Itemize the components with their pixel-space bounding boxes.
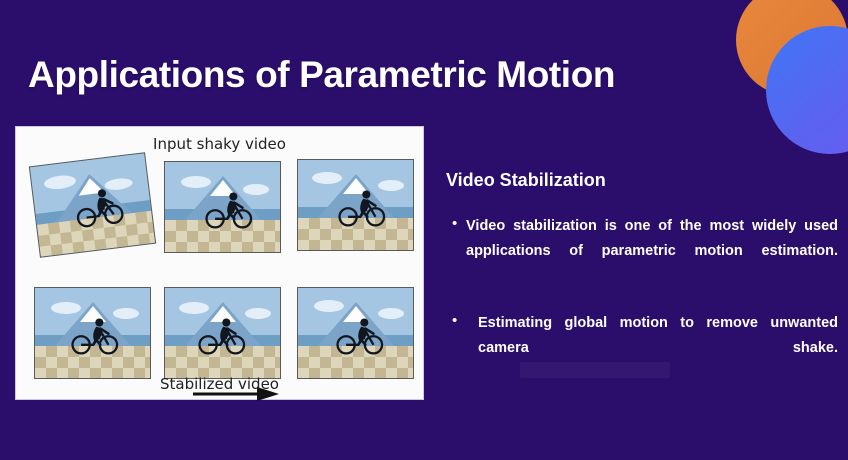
section-subheading: Video Stabilization	[446, 170, 606, 191]
figure-caption-bottom: Stabilized video	[16, 375, 423, 393]
page-title: Applications of Parametric Motion	[28, 54, 615, 96]
blue-circle-icon	[766, 26, 848, 154]
cyclist-icon	[70, 315, 121, 356]
list-item: • Video stabilization is one of the most…	[452, 214, 838, 289]
compression-artifact	[520, 362, 670, 378]
bullet-list: • Video stabilization is one of the most…	[452, 214, 838, 408]
video-frame-shaky-3	[297, 159, 414, 251]
cyclist-icon	[204, 189, 255, 230]
video-frame-stable-3	[297, 287, 414, 379]
cyclist-icon	[197, 315, 248, 356]
video-frame-shaky-1	[29, 152, 156, 258]
orange-circle-icon	[736, 0, 848, 96]
cyclist-icon	[337, 187, 388, 228]
video-frame-stable-1	[34, 287, 151, 379]
video-frame-shaky-2	[164, 161, 281, 253]
slide-canvas: Applications of Parametric Motion Input …	[0, 0, 848, 460]
cyclist-icon	[335, 315, 386, 356]
bullet-marker: •	[452, 214, 466, 289]
figure-caption-top: Input shaky video	[16, 135, 423, 153]
video-frame-stable-2	[164, 287, 281, 379]
bullet-marker: •	[452, 311, 478, 386]
decorative-circles	[708, 0, 848, 170]
cyclist-icon	[72, 183, 127, 230]
figure-panel: Input shaky video	[15, 126, 424, 400]
bullet-text: Video stabilization is one of the most w…	[466, 214, 838, 289]
